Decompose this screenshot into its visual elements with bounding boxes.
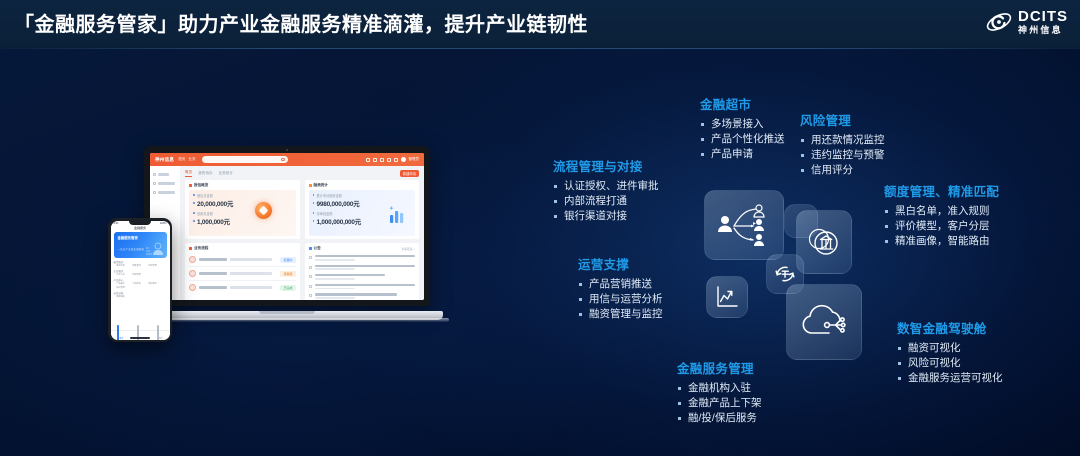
- doc-icon: [309, 256, 312, 259]
- list-item: 认证授权、进件审批: [553, 179, 659, 194]
- financing-statistics-card: 融资统计 累计申请融资金额 9980,000,000元 待审批金额 1,000,…: [305, 180, 420, 239]
- grid-item[interactable]: 保后服务: [146, 283, 160, 286]
- section-title: 运营分析: [114, 291, 167, 295]
- phone-screen: 9:41 中国移动 100% 金融服务 金融服务管家 一站式产业链金融服务 融资…: [111, 221, 170, 340]
- decorative-orb-icon: [255, 202, 272, 219]
- phone-home-indicator: [130, 337, 150, 338]
- grid-item[interactable]: 还款管理: [146, 265, 160, 268]
- list-item: 融资可视化: [897, 341, 1003, 356]
- card-title: 融资统计: [314, 183, 328, 188]
- brand-name-cn: 神州信息: [1018, 26, 1068, 35]
- stat-value: 20,000,000元: [193, 199, 292, 208]
- page-title: 「金融服务管家」助力产业金融服务精准滴灌，提升产业链韧性: [14, 8, 588, 37]
- sidebar-item-label: [158, 182, 175, 185]
- doc-icon: [309, 275, 312, 278]
- grid-item[interactable]: 产品推荐: [130, 283, 144, 286]
- search-icon: [281, 158, 284, 161]
- dashboard-toolbar: 管理员: [366, 157, 420, 162]
- feature-title: 流程管理与对接: [553, 156, 659, 175]
- list-item: 评价模型，客户分层: [884, 219, 999, 234]
- card-dot-icon: [309, 247, 312, 250]
- list-item: 风险可视化: [897, 356, 1003, 371]
- grid-item-label: 授权管理: [130, 274, 144, 277]
- stat-panel: 授信总金额 20,000,000元 放款总金额 1,000,000元: [189, 190, 296, 236]
- feature-list: 用还款情况监控 违约监控与预警 信用评分: [800, 133, 885, 178]
- sidebar-item[interactable]: [153, 173, 177, 176]
- feature-list: 认证授权、进件审批 内部流程打通 银行渠道对接: [553, 179, 659, 224]
- bank-coin-icon: [807, 225, 841, 259]
- row-name: [199, 258, 227, 260]
- row-desc: [230, 286, 272, 288]
- icon-grid: 企业认证 授权管理: [114, 274, 167, 277]
- tile-cloud-computing: [786, 284, 862, 360]
- row-avatar-icon: [189, 256, 196, 263]
- doc-icon: [309, 294, 312, 297]
- card-header: 融资统计: [309, 183, 416, 188]
- section-title: 企业服务: [114, 269, 167, 273]
- feature-list: 产品营销推送 用信与运营分析 融资管理与监控: [578, 277, 663, 322]
- feature-block-financial-service: 金融服务管理 金融机构入驻 金融产品上下架 融/投/保后服务: [677, 358, 762, 426]
- list-item: 银行渠道对接: [553, 209, 659, 224]
- grid-item[interactable]: 额度查询: [130, 265, 144, 268]
- laptop-screen: 神州信息 首页 业务 管理员: [150, 153, 424, 300]
- tab-label: 我的: [159, 338, 163, 340]
- brand-name-en: DCITS: [1018, 9, 1068, 24]
- avatar[interactable]: [401, 157, 406, 162]
- stat-label: 放款总金额: [193, 211, 292, 216]
- feature-title: 数智金融驾驶舱: [897, 318, 1003, 337]
- dcits-swirl-logo-icon: [985, 8, 1013, 36]
- new-application-button[interactable]: 新建申请: [400, 170, 419, 177]
- grid-icon[interactable]: [366, 158, 370, 162]
- section-title: 产品中心: [114, 278, 167, 282]
- tab-statistics[interactable]: 业务统计: [219, 171, 233, 176]
- row-avatar-icon: [189, 270, 196, 277]
- icon-grid: 产品超市 产品推荐 保后服务 投后管理: [114, 283, 167, 290]
- bar-chart-icon: [387, 204, 409, 226]
- doc-icon: [309, 266, 312, 269]
- feature-list: 黑白名单，准入规则 评价模型，客户分层 精准画像，智能路由: [884, 204, 999, 249]
- row-avatar-icon: [189, 284, 196, 291]
- list-item: 产品申请: [700, 147, 785, 162]
- card-dot-icon: [189, 247, 192, 250]
- table-row[interactable]: 处理中: [189, 253, 296, 267]
- stat-panel: 累计申请融资金额 9980,000,000元 待审批金额 1,000,000,0…: [309, 190, 416, 236]
- list-item: 产品营销推送: [578, 277, 663, 292]
- laptop-lid: 神州信息 首页 业务 管理员: [144, 146, 430, 306]
- status-time: 9:41: [114, 222, 119, 225]
- feature-block-quota: 额度管理、精准匹配 黑白名单，准入规则 评价模型，客户分层 精准画像，智能路由: [884, 181, 999, 249]
- username-label: 管理员: [409, 157, 420, 162]
- grid-item[interactable]: 产品超市: [114, 283, 128, 286]
- feature-list: 金融机构入驻 金融产品上下架 融/投/保后服务: [677, 381, 762, 426]
- view-more-link[interactable]: 查看更多 >: [401, 247, 415, 251]
- table-row[interactable]: 已完成: [189, 281, 296, 294]
- list-item: 融资管理与监控: [578, 307, 663, 322]
- list-item: 金融产品上下架: [677, 396, 762, 411]
- list-item: 信用评分: [800, 163, 885, 178]
- grid-item-label: 数据看板: [114, 296, 128, 299]
- grid-item-label: 还款管理: [146, 265, 160, 268]
- list-item: 产品个性化推送: [700, 132, 785, 147]
- card-header: 公告 查看更多 >: [309, 246, 416, 251]
- sidebar-item[interactable]: [153, 182, 177, 185]
- card-dot-icon: [309, 184, 312, 187]
- grid-item-label: 额度查询: [130, 265, 144, 268]
- card-title: 业务流程: [194, 246, 208, 251]
- dashboard-nav: 首页 业务: [178, 157, 195, 162]
- list-item[interactable]: [309, 282, 416, 292]
- list-card-row: 业务流程 处理中: [185, 239, 419, 300]
- gear-icon[interactable]: [394, 158, 398, 162]
- grid-item-label: 保后服务: [146, 283, 160, 286]
- menu-icon: [153, 173, 156, 176]
- list-item[interactable]: [309, 291, 416, 300]
- icon-cluster: [700, 188, 890, 368]
- phone-section-enterprise: 企业服务 企业认证 授权管理: [111, 269, 170, 277]
- sidebar-item-label: [158, 191, 175, 194]
- list-item: 内部流程打通: [553, 194, 659, 209]
- phone-section-products: 产品中心 产品超市 产品推荐 保后服务 投后管理: [111, 278, 170, 290]
- phone-mockup: 9:41 中国移动 100% 金融服务 金融服务管家 一站式产业链金融服务 融资…: [108, 218, 172, 342]
- feature-block-cockpit: 数智金融驾驶舱 融资可视化 风险可视化 金融服务运营可视化: [897, 318, 1003, 386]
- people-network-icon: [715, 202, 773, 248]
- list-item: 融/投/保后服务: [677, 411, 762, 426]
- grid-item-label: 投后管理: [114, 287, 128, 290]
- process-list-card: 业务流程 处理中: [185, 243, 300, 300]
- banner-title: 金融服务管家: [118, 235, 163, 240]
- stat-label: 授信总金额: [193, 193, 292, 198]
- list-item: 金融服务运营可视化: [897, 371, 1003, 386]
- grid-item[interactable]: 企业认证: [114, 274, 128, 277]
- grid-item-label: 产品推荐: [130, 283, 144, 286]
- slide-canvas: 「金融服务管家」助力产业金融服务精准滴灌，提升产业链韧性 DCITS 神州信息 …: [0, 0, 1080, 456]
- status-battery: 100%: [160, 222, 167, 225]
- list-item: 精准画像，智能路由: [884, 234, 999, 249]
- brand-logo: DCITS 神州信息: [985, 8, 1068, 36]
- grid-item-label: 产品超市: [114, 283, 128, 286]
- bell-icon[interactable]: [373, 158, 377, 162]
- grid-item[interactable]: 数据看板: [114, 296, 128, 299]
- tile-people-network: [704, 190, 784, 260]
- list-item: 多场景接入: [700, 117, 785, 132]
- feature-block-operations: 运营支撑 产品营销推送 用信与运营分析 融资管理与监控: [578, 254, 663, 322]
- stat-card-row: 授信概览 授信总金额 20,000,000元 放款总金额 1,000,000元: [185, 180, 419, 239]
- dashboard-main: 概览 我的待办 业务统计 新建申请 授信概览: [180, 166, 424, 300]
- row-desc: [230, 272, 272, 274]
- row-desc: [230, 258, 272, 260]
- notice-text: [315, 265, 416, 271]
- feature-title: 风险管理: [800, 110, 885, 129]
- menu-icon: [153, 182, 156, 185]
- phone-section-financing: 融资服务 融资申请 额度查询 还款管理: [111, 260, 170, 268]
- status-badge: 处理中: [280, 257, 295, 263]
- tile-trending-chart: [706, 276, 748, 318]
- feature-title: 额度管理、精准匹配: [884, 181, 999, 200]
- grid-item[interactable]: 融资申请: [114, 265, 128, 268]
- doc-icon: [309, 285, 312, 288]
- row-name: [199, 272, 227, 274]
- card-header: 授信概览: [189, 183, 296, 188]
- icon-grid: 数据看板: [114, 296, 167, 299]
- notice-card: 公告 查看更多 >: [305, 243, 420, 300]
- notice-text: [315, 274, 416, 280]
- list-item: 黑白名单，准入规则: [884, 204, 999, 219]
- status-badge: 待审核: [280, 271, 295, 277]
- list-item[interactable]: [309, 253, 416, 263]
- currency-exchange-icon: [773, 262, 797, 286]
- laptop-mockup: 神州信息 首页 业务 管理员: [131, 146, 443, 322]
- notice-text: [315, 293, 416, 299]
- grid-item[interactable]: 投后管理: [114, 287, 128, 290]
- phone-section-analytics: 运营分析 数据看板: [111, 291, 170, 299]
- sidebar-item[interactable]: [153, 191, 177, 194]
- notice-text: [315, 255, 416, 261]
- tab-todo[interactable]: 我的待办: [198, 171, 212, 176]
- card-title: 授信概览: [194, 183, 208, 188]
- help-icon[interactable]: [387, 158, 391, 162]
- notice-text: [315, 284, 416, 290]
- phone-notch: [129, 221, 151, 225]
- dashboard-search-input[interactable]: [202, 156, 288, 163]
- slide-header: 「金融服务管家」助力产业金融服务精准滴灌，提升产业链韧性 DCITS 神州信息: [0, 0, 1080, 49]
- list-item[interactable]: [309, 263, 416, 273]
- sidebar-item-label: [158, 173, 169, 176]
- section-title: 融资服务: [114, 260, 167, 264]
- phone-navbar: 金融服务: [111, 226, 170, 231]
- feature-title: 金融超市: [700, 94, 785, 113]
- phone-nav-title: 金融服务: [134, 226, 146, 230]
- feature-list: 多场景接入 产品个性化推送 产品申请: [700, 117, 785, 162]
- phone-banner: 金融服务管家 一站式产业链金融服务: [114, 232, 167, 258]
- laptop-base-highlight: [125, 318, 449, 322]
- dashboard-brand: 神州信息: [155, 157, 174, 163]
- card-header: 业务流程: [189, 246, 296, 251]
- list-item[interactable]: [309, 272, 416, 282]
- card-dot-icon: [189, 184, 192, 187]
- status-badge: 已完成: [280, 285, 295, 291]
- grid-item[interactable]: 授权管理: [130, 274, 144, 277]
- feature-block-process: 流程管理与对接 认证授权、进件审批 内部流程打通 银行渠道对接: [553, 156, 659, 224]
- list-item: 违约监控与预警: [800, 148, 885, 163]
- tab-mine[interactable]: 我的: [157, 326, 163, 340]
- feature-block-risk: 风险管理 用还款情况监控 违约监控与预警 信用评分: [800, 110, 885, 178]
- feature-title: 运营支撑: [578, 254, 663, 273]
- grid-item-label: 企业认证: [114, 274, 128, 277]
- row-name: [199, 286, 227, 288]
- tab-label: 首页: [119, 338, 123, 340]
- card-title: 公告: [314, 246, 321, 251]
- list-item: 用信与运营分析: [578, 292, 663, 307]
- dashboard-tabs: 概览 我的待办 业务统计 新建申请: [185, 170, 419, 177]
- credit-overview-card: 授信概览 授信总金额 20,000,000元 放款总金额 1,000,000元: [185, 180, 300, 239]
- dashboard-topbar: 神州信息 首页 业务 管理员: [150, 153, 424, 166]
- cloud-computing-icon: [798, 299, 850, 345]
- icon-grid: 融资申请 额度查询 还款管理: [114, 265, 167, 268]
- table-row[interactable]: 待审核: [189, 267, 296, 281]
- grid-item-label: 融资申请: [114, 265, 128, 268]
- tile-bank-coin: [796, 210, 852, 274]
- stat-label: 累计申请融资金额: [313, 193, 412, 198]
- stat-value: 1,000,000元: [193, 217, 292, 226]
- tab-overview[interactable]: 概览: [185, 170, 192, 177]
- list-item: 用还款情况监控: [800, 133, 885, 148]
- message-icon[interactable]: [380, 158, 384, 162]
- tab-home[interactable]: 首页: [117, 326, 123, 340]
- list-item: 金融机构入驻: [677, 381, 762, 396]
- feature-block-market: 金融超市 多场景接入 产品个性化推送 产品申请: [700, 94, 785, 162]
- brand-logo-text: DCITS 神州信息: [1018, 9, 1068, 35]
- nav-item[interactable]: 业务: [188, 157, 195, 162]
- nav-item[interactable]: 首页: [178, 157, 185, 162]
- trending-chart-icon: [714, 284, 740, 310]
- menu-icon: [153, 191, 156, 194]
- dashboard-body: 概览 我的待办 业务统计 新建申请 授信概览: [150, 166, 424, 300]
- feature-list: 融资可视化 风险可视化 金融服务运营可视化: [897, 341, 1003, 386]
